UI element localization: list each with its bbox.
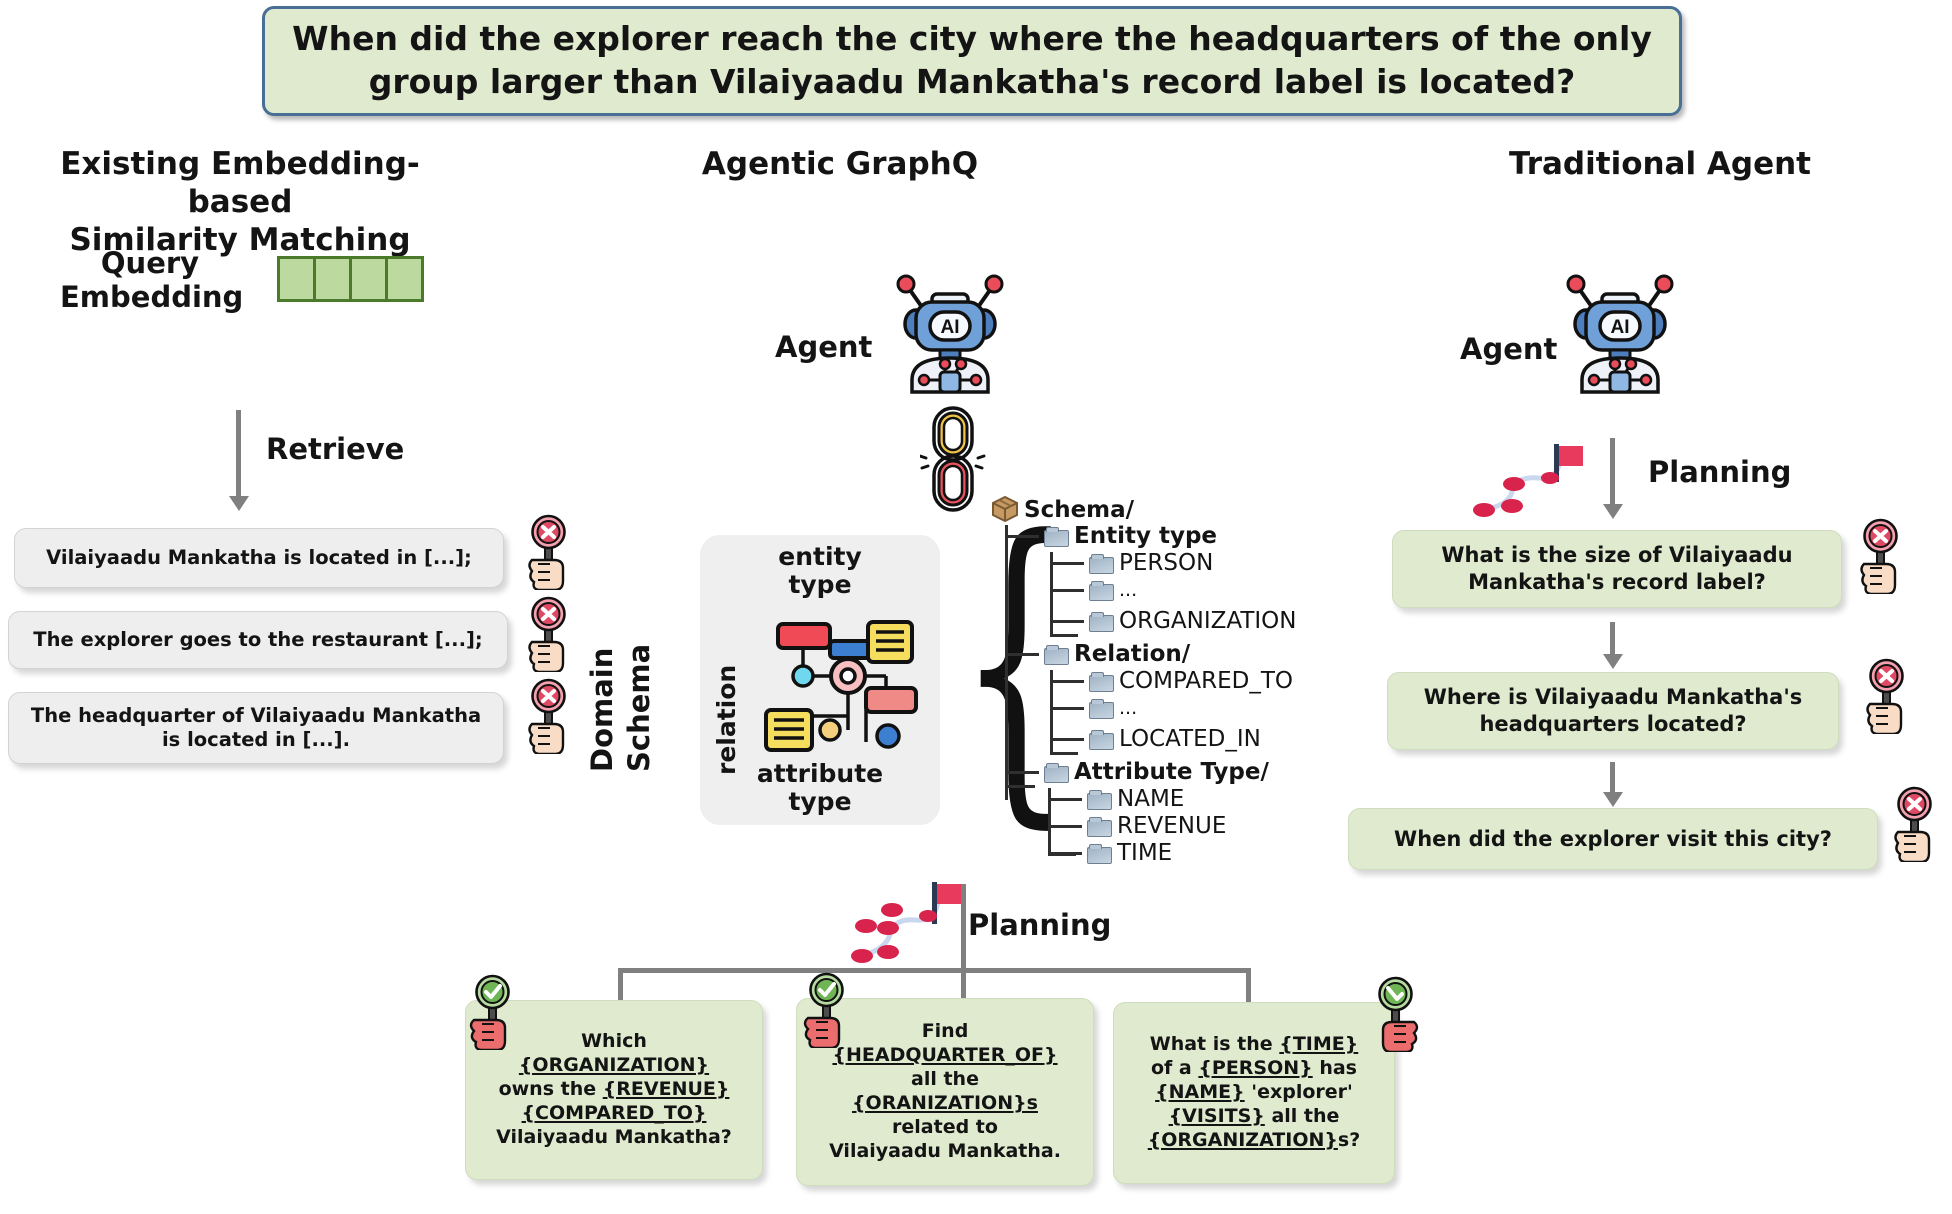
embedding-cell <box>388 259 421 299</box>
schema-group-entity-type-label: Entity type <box>1074 523 1217 549</box>
plain-text: of a <box>1151 1057 1198 1079</box>
schema-token: {ORANIZATION}s <box>852 1092 1038 1114</box>
subquestion-2-line-1: Find <box>922 1020 969 1044</box>
right-planning-label: Planning <box>1648 455 1791 489</box>
svg-text:AI: AI <box>941 317 960 338</box>
schema-item-organization-label: ORGANIZATION <box>1119 608 1296 634</box>
tree-dash <box>1005 653 1039 656</box>
schema-item-organization: ORGANIZATION <box>1050 608 1296 634</box>
subquestion-1-line-2: {ORGANIZATION} <box>519 1054 709 1078</box>
domain-schema-label-line1: Domain <box>585 592 619 772</box>
embedding-cell <box>316 259 352 299</box>
schema-item-ellipsis: ... <box>1050 579 1137 601</box>
right-planning-arrow-shaft <box>1610 438 1615 506</box>
retrieved-result-2: The explorer goes to the restaurant [...… <box>8 611 508 669</box>
plain-text: related to <box>892 1116 998 1138</box>
question-banner: When did the explorer reach the city whe… <box>262 6 1682 116</box>
tree-dash <box>1050 680 1084 683</box>
tree-branch-end <box>1005 785 1035 788</box>
schema-item-time-label: TIME <box>1117 840 1172 866</box>
plain-text: Vilaiyaadu Mankatha? <box>496 1126 732 1148</box>
schema-item-name: NAME <box>1048 786 1184 812</box>
folder-icon <box>1089 612 1113 631</box>
subquestion-3-line-4: {VISITS} all the <box>1169 1105 1340 1129</box>
folder-icon <box>1089 581 1113 600</box>
schema-token: {ORGANIZATION} <box>519 1054 709 1076</box>
column-title-right: Traditional Agent <box>1440 146 1880 184</box>
schema-token: {HEADQUARTER_OF} <box>832 1044 1057 1066</box>
schema-item-ellipsis-label: ... <box>1119 697 1137 719</box>
tree-dash <box>1050 738 1084 741</box>
planning-fanout-bar <box>618 968 1250 973</box>
right-step-3-text: When did the explorer visit this city? <box>1394 826 1832 853</box>
schema-item-located-in-label: LOCATED_IN <box>1119 726 1261 752</box>
schema-token: {ORGANIZATION} <box>1148 1129 1338 1151</box>
subquestion-2-line-4: {ORANIZATION}s <box>852 1092 1038 1116</box>
tree-dash <box>1050 707 1084 710</box>
correct-badge-icon <box>800 972 854 1048</box>
wrong-badge-icon <box>1888 786 1942 862</box>
schema-item-person-label: PERSON <box>1119 550 1213 576</box>
right-step-1-text: What is the size of Vilaiyaadu Mankatha'… <box>1441 542 1792 596</box>
column-title-middle: Agentic GraphQ <box>620 146 1060 184</box>
relation-label: relation <box>712 615 741 775</box>
schema-item-time: TIME <box>1048 840 1172 866</box>
folder-icon <box>1044 645 1068 664</box>
schema-item-person: PERSON <box>1050 550 1213 576</box>
schema-item-ellipsis-label: ... <box>1119 579 1137 601</box>
right-step-1: What is the size of Vilaiyaadu Mankatha'… <box>1392 530 1842 608</box>
correct-badge-icon <box>466 974 520 1050</box>
subquestion-3-line-2: of a {PERSON} has <box>1151 1057 1357 1081</box>
subquestion-1-line-3: owns the {REVENUE} <box>499 1078 730 1102</box>
schema-item-name-label: NAME <box>1117 786 1184 812</box>
retrieve-arrow-shaft <box>236 410 241 498</box>
schema-group-relation: Relation/ <box>1005 641 1190 667</box>
schema-item-located-in: LOCATED_IN <box>1050 726 1261 752</box>
tree-dash <box>1050 562 1084 565</box>
subquestion-box-3: What is the {TIME}of a {PERSON} has{NAME… <box>1113 1002 1395 1184</box>
right-step-2-text: Where is Vilaiyaadu Mankatha's headquart… <box>1424 684 1803 738</box>
folder-icon <box>1087 790 1111 809</box>
schema-group-entity-type: Entity type <box>1005 523 1217 549</box>
folder-icon <box>1089 699 1113 718</box>
plain-text: Which <box>581 1030 647 1052</box>
wrong-badge-icon <box>522 514 576 590</box>
schema-group-attribute-type: Attribute Type/ <box>1005 759 1269 785</box>
right-step-arrow-2-shaft <box>1610 762 1615 794</box>
folder-icon <box>1087 817 1111 836</box>
tree-dash <box>1005 535 1039 538</box>
middle-agent-label: Agent <box>775 330 872 364</box>
subquestion-1-line-5: Vilaiyaadu Mankatha? <box>496 1126 732 1150</box>
subquestion-3-line-5: {ORGANIZATION}s? <box>1148 1129 1361 1153</box>
subquestion-2-line-3: all the <box>911 1068 979 1092</box>
subquestion-2-line-5: related to <box>892 1116 998 1140</box>
ai-robot-icon: AI <box>1560 272 1680 398</box>
retrieved-result-3-text: The headquarter of Vilaiyaadu Mankatha i… <box>31 704 481 753</box>
embedding-cell <box>352 259 388 299</box>
schema-token: {REVENUE} <box>603 1078 730 1100</box>
question-text: When did the explorer reach the city whe… <box>287 18 1657 104</box>
wrong-badge-icon <box>1860 658 1914 734</box>
planning-arrow-shaft <box>961 884 966 972</box>
tree-dash <box>1048 825 1082 828</box>
subquestion-2-line-2: {HEADQUARTER_OF} <box>832 1044 1057 1068</box>
folder-icon <box>1044 763 1068 782</box>
right-step-2: Where is Vilaiyaadu Mankatha's headquart… <box>1387 672 1839 750</box>
schema-item-compared-to: COMPARED_TO <box>1050 668 1293 694</box>
retrieved-result-3: The headquarter of Vilaiyaadu Mankatha i… <box>8 692 504 764</box>
plain-text: owns the <box>499 1078 603 1100</box>
domain-schema-label-line2: Schema <box>622 592 656 772</box>
plain-text: 'explorer' <box>1245 1081 1353 1103</box>
subquestion-1-line-1: Which <box>581 1030 647 1054</box>
retrieve-label: Retrieve <box>266 432 404 466</box>
ai-robot-icon: AI <box>890 272 1010 398</box>
right-planning-arrow-head <box>1603 504 1623 519</box>
plain-text: s? <box>1338 1129 1360 1151</box>
subquestion-3-line-3: {NAME} 'explorer' <box>1155 1081 1353 1105</box>
schema-item-ellipsis: ... <box>1050 697 1137 719</box>
plain-text: Vilaiyaadu Mankatha. <box>829 1140 1061 1162</box>
plain-text: Find <box>922 1020 969 1042</box>
right-step-arrow-2-head <box>1603 792 1623 807</box>
folder-icon <box>1087 844 1111 863</box>
subquestion-2-line-6: Vilaiyaadu Mankatha. <box>829 1140 1061 1164</box>
right-agent-label: Agent <box>1460 332 1557 366</box>
query-embedding-vector <box>277 256 424 302</box>
schema-tree-root: Schema/ <box>1024 497 1134 523</box>
column-title-left: Existing Embedding-based Similarity Matc… <box>30 146 450 259</box>
folder-icon <box>1089 554 1113 573</box>
plain-text: has <box>1313 1057 1357 1079</box>
plain-text: all the <box>911 1068 979 1090</box>
right-step-arrow-1-head <box>1603 654 1623 669</box>
tree-branch-end <box>1050 634 1078 637</box>
schema-group-attribute-type-label: Attribute Type/ <box>1074 759 1269 785</box>
tree-dash <box>1005 771 1039 774</box>
wrong-badge-icon <box>1854 518 1908 594</box>
plain-text: What is the <box>1150 1033 1280 1055</box>
route-flag-icon <box>848 870 968 974</box>
schema-item-compared-to-label: COMPARED_TO <box>1119 668 1293 694</box>
embedding-cell <box>280 259 316 299</box>
tree-dash <box>1050 589 1084 592</box>
schema-item-revenue: REVENUE <box>1048 813 1226 839</box>
retrieved-result-1-text: Vilaiyaadu Mankatha is located in [...]; <box>46 546 472 570</box>
folder-icon <box>1089 730 1113 749</box>
route-flag-icon <box>1470 440 1590 534</box>
folder-icon <box>1044 527 1068 546</box>
schema-token: {NAME} <box>1155 1081 1245 1103</box>
retrieve-arrow-head <box>229 496 249 511</box>
retrieved-result-2-text: The explorer goes to the restaurant [...… <box>33 628 482 652</box>
svg-text:AI: AI <box>1611 317 1630 338</box>
correct-badge-icon <box>1368 976 1422 1052</box>
middle-planning-label: Planning <box>968 908 1111 942</box>
schema-group-relation-label: Relation/ <box>1074 641 1190 667</box>
schema-item-revenue-label: REVENUE <box>1117 813 1226 839</box>
wrong-badge-icon <box>522 596 576 672</box>
right-step-3: When did the explorer visit this city? <box>1348 808 1878 870</box>
schema-token: {TIME} <box>1279 1033 1358 1055</box>
tree-dash <box>1048 798 1082 801</box>
tree-branch-end <box>1050 752 1078 755</box>
tree-dash <box>1048 852 1082 855</box>
entity-type-label: entity type <box>700 543 940 599</box>
attribute-type-label: attribute type <box>700 760 940 816</box>
schema-token: {VISITS} <box>1169 1105 1265 1127</box>
schema-token: {PERSON} <box>1198 1057 1312 1079</box>
query-embedding-label: Query Embedding <box>60 246 240 314</box>
subquestion-1-line-4: {COMPARED_TO} <box>522 1102 707 1126</box>
retrieved-result-1: Vilaiyaadu Mankatha is located in [...]; <box>14 528 504 588</box>
schema-graph-icon <box>748 608 918 762</box>
right-step-arrow-1-shaft <box>1610 622 1615 656</box>
subquestion-3-line-1: What is the {TIME} <box>1150 1033 1359 1057</box>
schema-tree-root-label: Schema/ <box>1024 497 1134 523</box>
wrong-badge-icon <box>522 678 576 754</box>
plain-text: all the <box>1265 1105 1340 1127</box>
schema-token: {COMPARED_TO} <box>522 1102 707 1124</box>
tree-dash <box>1050 620 1084 623</box>
folder-icon <box>1089 672 1113 691</box>
